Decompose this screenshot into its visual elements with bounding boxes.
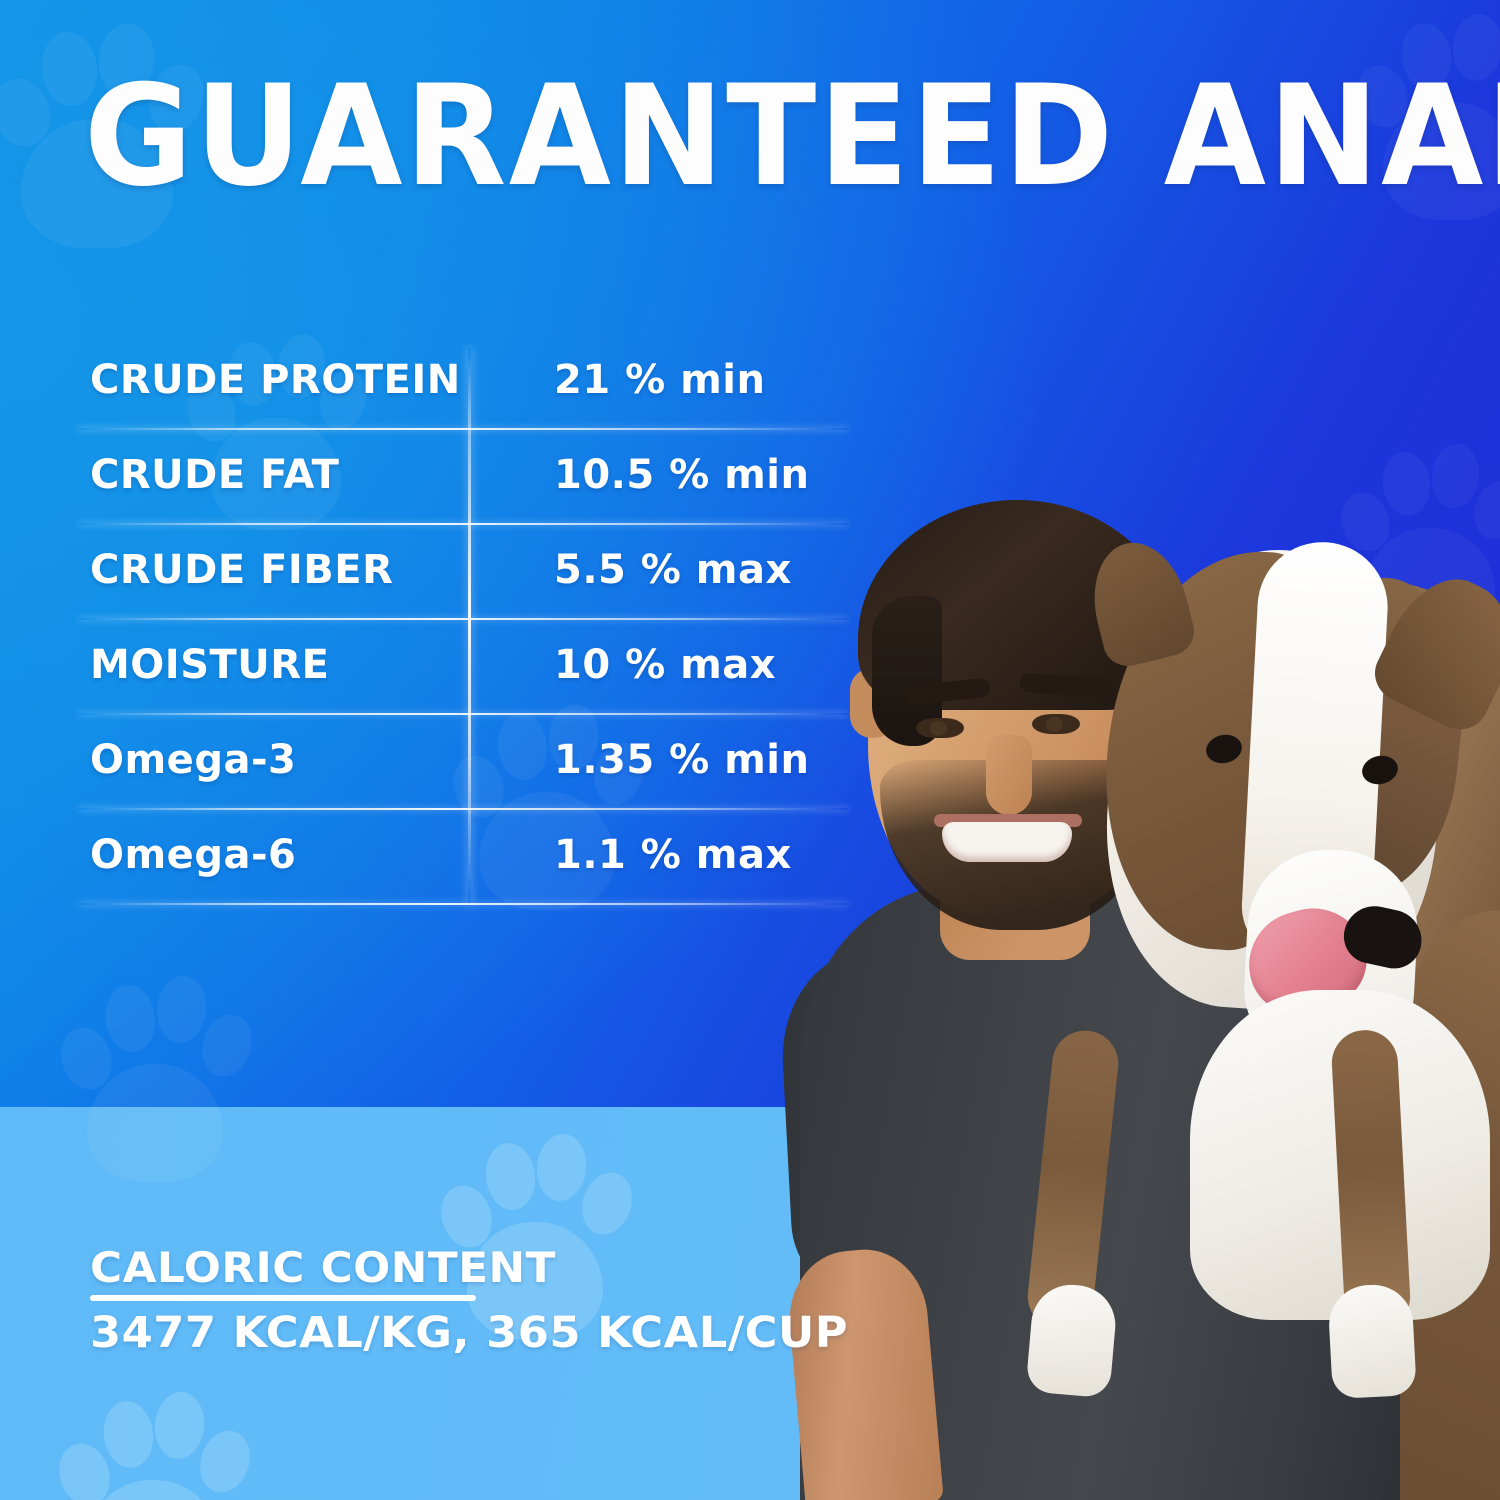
table-row: Omega-6 1.1 % max <box>0 807 900 902</box>
table-column-divider <box>468 348 471 906</box>
nutrient-label: CRUDE PROTEIN <box>90 357 461 403</box>
guaranteed-analysis-table: CRUDE PROTEIN 21 % min CRUDE FAT 10.5 % … <box>0 332 900 902</box>
nutrient-amount: 1.1 % max <box>554 832 792 878</box>
poster-canvas: GUARANTEED ANALYSIS CRUDE PROTEIN 21 % m… <box>0 0 1500 1500</box>
nutrient-label: MOISTURE <box>90 642 329 688</box>
nutrient-amount: 5.5 % max <box>554 547 792 593</box>
nutrient-amount: 21 % min <box>554 357 765 403</box>
table-row-divider <box>78 618 848 620</box>
caloric-content-detail: 3477 KCAL/KG, 365 KCAL/CUP <box>90 1308 848 1358</box>
nutrient-label: CRUDE FIBER <box>90 547 393 593</box>
nutrient-amount: 10 % max <box>554 642 776 688</box>
caloric-content-underline <box>90 1295 476 1301</box>
table-row-divider <box>78 428 848 430</box>
nutrient-label: Omega-6 <box>90 832 296 878</box>
caloric-content-heading: CALORIC CONTENT <box>90 1243 848 1292</box>
dog-front-paw-left <box>1025 1282 1118 1399</box>
table-row-divider <box>78 523 848 525</box>
table-row: CRUDE FIBER 5.5 % max <box>0 522 900 617</box>
page-title: GUARANTEED ANALYSIS <box>84 66 1500 205</box>
table-row: MOISTURE 10 % max <box>0 617 900 712</box>
table-row: CRUDE FAT 10.5 % min <box>0 427 900 522</box>
table-row-divider <box>78 808 848 810</box>
nutrient-amount: 10.5 % min <box>554 452 810 498</box>
nutrient-amount: 1.35 % min <box>554 737 810 783</box>
man-smile-teeth <box>942 822 1072 862</box>
caloric-content-block: CALORIC CONTENT 3477 KCAL/KG, 365 KCAL/C… <box>90 1243 819 1358</box>
dog-front-paw-right <box>1327 1283 1417 1399</box>
man-nose <box>986 735 1032 815</box>
table-row-divider <box>78 713 848 715</box>
table-row: Omega-3 1.35 % min <box>0 712 900 807</box>
table-row: CRUDE PROTEIN 21 % min <box>0 332 900 427</box>
table-row-divider <box>78 903 848 905</box>
nutrient-label: Omega-3 <box>90 737 296 783</box>
man-eye-left <box>916 718 964 738</box>
man-eye-right <box>1032 714 1080 734</box>
nutrient-label: CRUDE FAT <box>90 452 339 498</box>
